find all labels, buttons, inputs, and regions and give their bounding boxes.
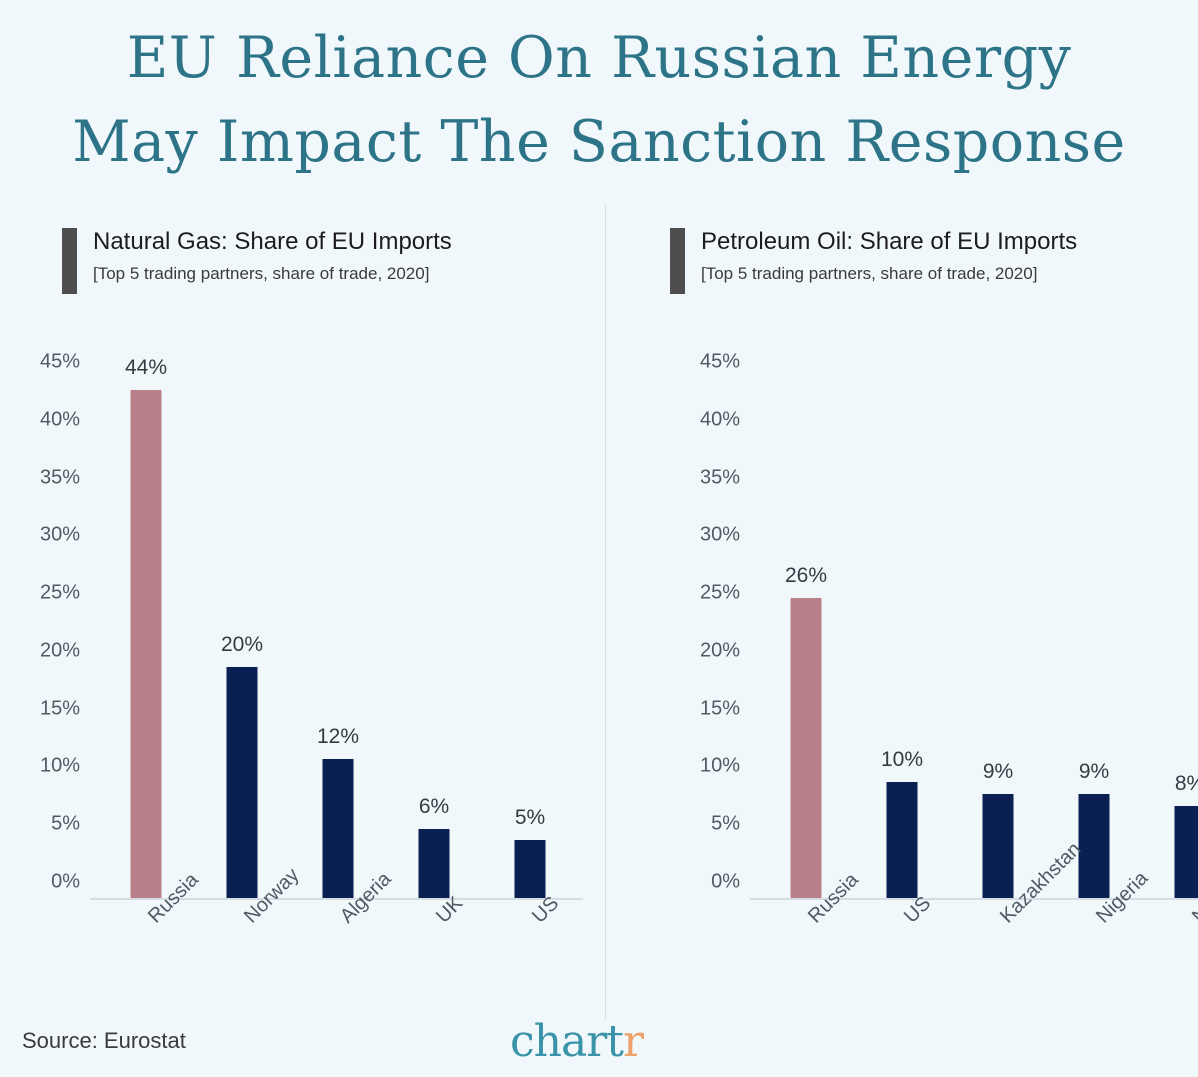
- bars-petroleum-oil: 26%10%9%9%8%: [758, 360, 1198, 900]
- bar[interactable]: [791, 598, 822, 898]
- category-slot: Russia: [98, 900, 194, 1030]
- bar-value-label: 5%: [515, 806, 545, 830]
- bar-slot: 44%: [98, 378, 194, 898]
- y-axis-tick-label: 10%: [40, 755, 80, 778]
- category-slot: Norway: [1142, 900, 1198, 1030]
- page-title: EU Reliance On Russian Energy May Impact…: [0, 16, 1198, 184]
- y-axis-tick-label: 40%: [700, 408, 740, 431]
- bar[interactable]: [983, 794, 1014, 898]
- panel-subheading: [Top 5 trading partners, share of trade,…: [93, 259, 452, 289]
- bar-value-label: 9%: [983, 760, 1013, 784]
- category-slot: Nigeria: [1046, 900, 1142, 1030]
- panel-heading: Petroleum Oil: Share of EU Imports: [701, 225, 1077, 259]
- category-slot: Norway: [194, 900, 290, 1030]
- chartr-logo: chartr: [510, 1016, 643, 1067]
- bar-slot: 12%: [290, 378, 386, 898]
- y-axis-tick-label: 25%: [40, 582, 80, 605]
- panel-swatch-icon: [62, 228, 77, 294]
- y-axis-tick-label: 30%: [700, 524, 740, 547]
- category-slot: US: [854, 900, 950, 1030]
- bar[interactable]: [227, 667, 258, 898]
- y-axis-tick-label: 35%: [40, 466, 80, 489]
- bar-slot: 5%: [482, 378, 578, 898]
- y-axis-tick-label: 45%: [700, 351, 740, 374]
- y-axis-tick-label: 0%: [51, 871, 80, 894]
- bar[interactable]: [1175, 806, 1198, 898]
- bar[interactable]: [1079, 794, 1110, 898]
- panel-header-petroleum-oil: Petroleum Oil: Share of EU Imports [Top …: [670, 225, 1077, 294]
- bars-natural-gas: 44%20%12%6%5%: [98, 360, 583, 900]
- y-axis-tick-label: 25%: [700, 582, 740, 605]
- source-note: Source: Eurostat: [22, 1028, 186, 1054]
- bar-slot: 9%: [1046, 378, 1142, 898]
- bar-slot: 6%: [386, 378, 482, 898]
- y-axis-tick-label: 40%: [40, 408, 80, 431]
- y-axis-tick-label: 20%: [40, 639, 80, 662]
- bar[interactable]: [131, 390, 162, 898]
- bar[interactable]: [887, 782, 918, 898]
- bar-value-label: 20%: [221, 633, 263, 657]
- y-axis-tick-label: 5%: [711, 813, 740, 836]
- y-axis-tick-label: 30%: [40, 524, 80, 547]
- y-axis-natural-gas: 0%5%10%15%20%25%30%35%40%45%: [18, 360, 80, 900]
- plot-area-natural-gas: 0%5%10%15%20%25%30%35%40%45% 44%20%12%6%…: [18, 360, 583, 900]
- bar-value-label: 26%: [785, 564, 827, 588]
- panel-header-natural-gas: Natural Gas: Share of EU Imports [Top 5 …: [62, 225, 452, 294]
- y-axis-tick-label: 0%: [711, 871, 740, 894]
- y-axis-tick-label: 15%: [40, 697, 80, 720]
- y-axis-petroleum-oil: 0%5%10%15%20%25%30%35%40%45%: [678, 360, 740, 900]
- bar-value-label: 12%: [317, 725, 359, 749]
- category-slot: US: [482, 900, 578, 1030]
- panel-divider: [605, 205, 606, 1020]
- bar-slot: 8%: [1142, 378, 1198, 898]
- bar-slot: 10%: [854, 378, 950, 898]
- plot-area-petroleum-oil: 0%5%10%15%20%25%30%35%40%45% 26%10%9%9%8…: [678, 360, 1198, 900]
- page-title-line-2: May Impact The Sanction Response: [0, 100, 1198, 184]
- panel-subheading: [Top 5 trading partners, share of trade,…: [701, 259, 1077, 289]
- category-slot: Kazakhstan: [950, 900, 1046, 1030]
- y-axis-tick-label: 45%: [40, 351, 80, 374]
- x-axis-petroleum-oil: RussiaUSKazakhstanNigeriaNorway: [758, 900, 1198, 1040]
- bar-value-label: 44%: [125, 356, 167, 380]
- logo-main-text: chart: [510, 1016, 623, 1067]
- y-axis-tick-label: 20%: [700, 639, 740, 662]
- bar-value-label: 10%: [881, 748, 923, 772]
- bar-value-label: 6%: [419, 795, 449, 819]
- logo-accent-text: r: [623, 1016, 643, 1067]
- bar[interactable]: [515, 840, 546, 898]
- bar-value-label: 8%: [1175, 772, 1198, 796]
- panel-heading: Natural Gas: Share of EU Imports: [93, 225, 452, 259]
- category-slot: Russia: [758, 900, 854, 1030]
- bar-value-label: 9%: [1079, 760, 1109, 784]
- y-axis-tick-label: 5%: [51, 813, 80, 836]
- y-axis-tick-label: 15%: [700, 697, 740, 720]
- bar-slot: 9%: [950, 378, 1046, 898]
- bar[interactable]: [419, 829, 450, 898]
- bar[interactable]: [323, 759, 354, 898]
- category-slot: Algeria: [290, 900, 386, 1030]
- bar-slot: 26%: [758, 378, 854, 898]
- y-axis-tick-label: 35%: [700, 466, 740, 489]
- page-title-line-1: EU Reliance On Russian Energy: [0, 16, 1198, 100]
- category-slot: UK: [386, 900, 482, 1030]
- bar-slot: 20%: [194, 378, 290, 898]
- panel-swatch-icon: [670, 228, 685, 294]
- y-axis-tick-label: 10%: [700, 755, 740, 778]
